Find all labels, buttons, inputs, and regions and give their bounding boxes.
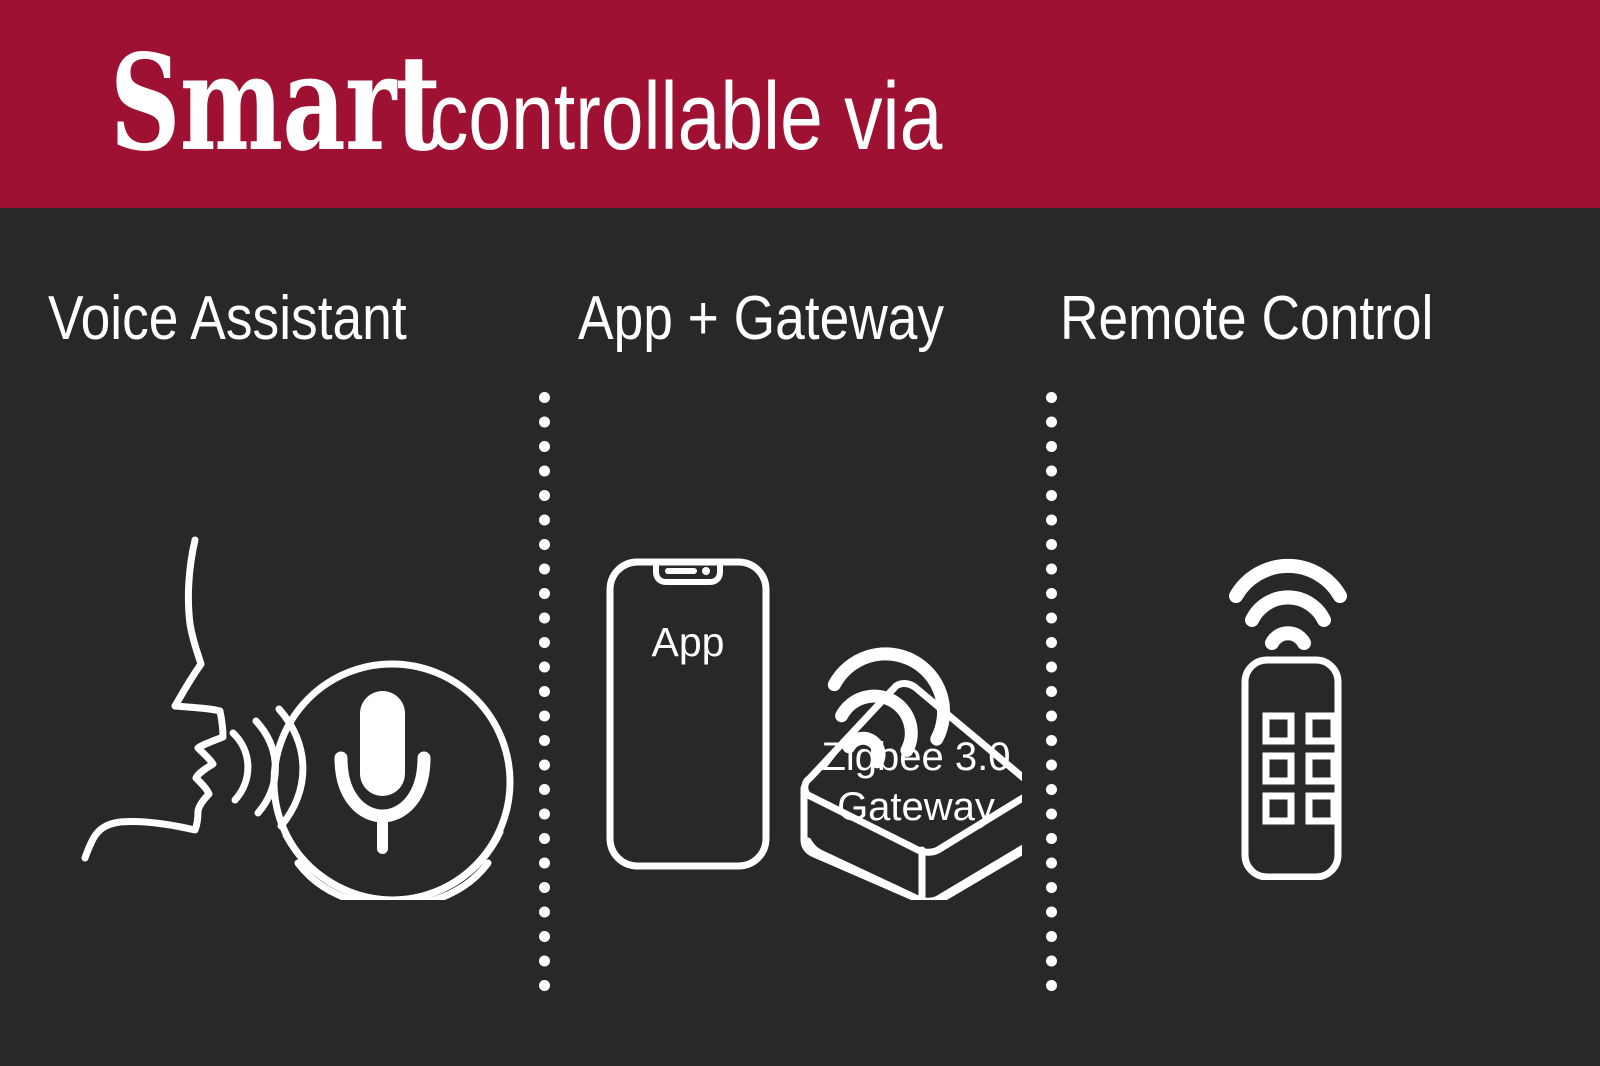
page-title: Smart controllable via — [52, 38, 1006, 170]
gateway-label-line1: Zigbee 3.0 — [821, 735, 1010, 779]
smartphone-icon: App — [610, 562, 766, 866]
remote-button[interactable] — [1309, 716, 1334, 741]
remote-button[interactable] — [1266, 716, 1291, 741]
front-camera-dot — [702, 567, 710, 575]
signal-wave-icon — [1236, 566, 1340, 643]
remote-button[interactable] — [1309, 756, 1334, 781]
app-gateway-illustration: App Zigbee 3.0 Gateway — [578, 528, 1022, 900]
remote-control-icon — [1245, 660, 1338, 877]
microphone-icon — [341, 691, 424, 854]
column-heading-voice-assistant: Voice Assistant — [48, 288, 407, 350]
remote-button[interactable] — [1266, 756, 1291, 781]
phone-app-label: App — [652, 619, 725, 665]
infographic-page: Smart controllable via Voice Assistant A… — [0, 0, 1600, 1066]
remote-button[interactable] — [1266, 796, 1291, 821]
remote-control-illustration — [1188, 540, 1394, 880]
column-heading-app-gateway: App + Gateway — [578, 288, 944, 350]
remote-button[interactable] — [1309, 796, 1334, 821]
header-banner: Smart controllable via — [0, 0, 1600, 208]
dotted-divider-1 — [539, 392, 550, 1004]
gateway-label-line2: Gateway — [837, 785, 995, 829]
voice-assistant-illustration — [60, 508, 530, 900]
column-heading-remote-control: Remote Control — [1060, 288, 1433, 350]
title-strong: Smart — [110, 38, 440, 170]
earpiece-speaker — [665, 568, 697, 574]
remote-button-grid — [1266, 716, 1334, 821]
dotted-divider-2 — [1046, 392, 1057, 1004]
title-light: controllable via — [430, 69, 942, 165]
